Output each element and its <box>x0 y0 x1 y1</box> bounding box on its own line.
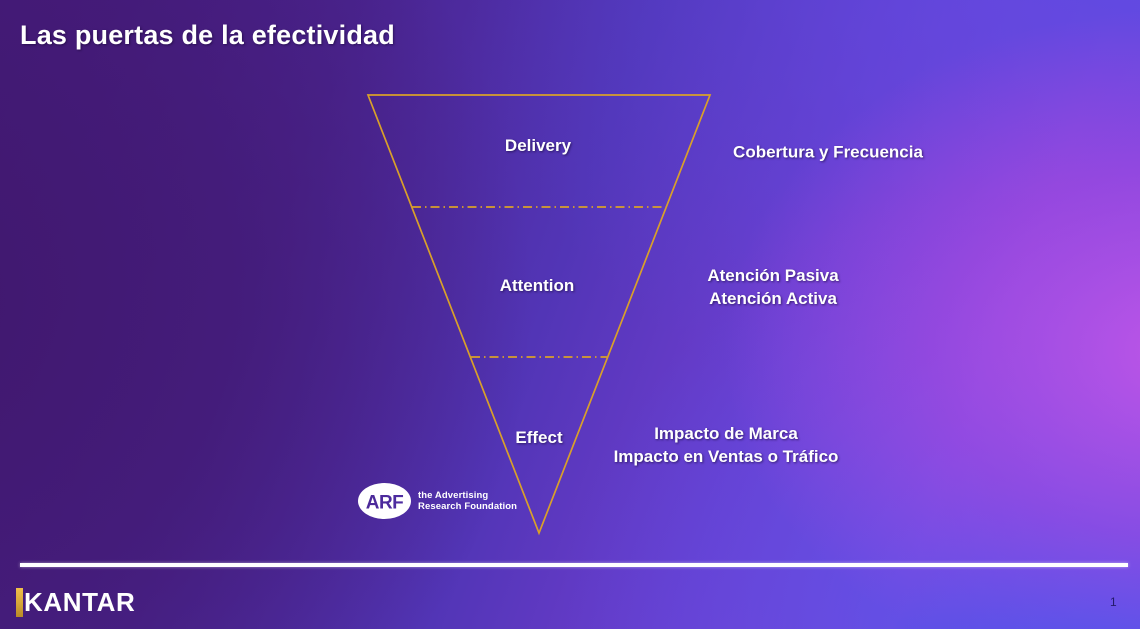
kantar-logo: KANTAR <box>16 588 135 617</box>
page-title: Las puertas de la efectividad <box>20 20 395 51</box>
descriptor-line: Impacto en Ventas o Tráfico <box>614 445 839 468</box>
slide-canvas: Las puertas de la efectividad Delivery A… <box>0 0 1140 629</box>
descriptor-line: Cobertura y Frecuencia <box>733 141 923 164</box>
funnel-stage-label-delivery: Delivery <box>505 136 571 156</box>
arf-tagline: the Advertising Research Foundation <box>418 490 517 512</box>
funnel-diagram <box>0 0 1140 629</box>
funnel-stage-label-effect: Effect <box>515 428 562 448</box>
arf-logo: ARF the Advertising Research Foundation <box>358 483 517 519</box>
funnel-descriptor-attention: Atención Pasiva Atención Activa <box>707 264 838 310</box>
page-number: 1 <box>1110 595 1117 609</box>
arf-mark-icon: ARF <box>358 483 411 519</box>
funnel-stage-label-attention: Attention <box>500 276 575 296</box>
kantar-wordmark: KANTAR <box>24 588 135 617</box>
funnel-descriptor-delivery: Cobertura y Frecuencia <box>733 141 923 164</box>
descriptor-line: Impacto de Marca <box>614 422 839 445</box>
descriptor-line: Atención Activa <box>707 287 838 310</box>
descriptor-line: Atención Pasiva <box>707 264 838 287</box>
funnel-descriptor-effect: Impacto de Marca Impacto en Ventas o Trá… <box>614 422 839 468</box>
footer-divider-rule <box>20 563 1128 567</box>
kantar-accent-bar <box>16 588 23 617</box>
